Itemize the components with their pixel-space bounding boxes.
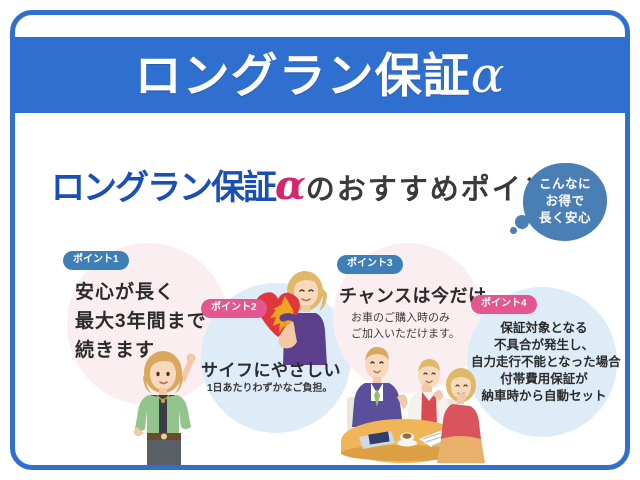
point-2-title: サイフにやさしい [201, 360, 341, 382]
point-1-title: 安心が長く 最大3年間まで 続きます [75, 278, 207, 365]
point-1-title-line-3: 続きます [75, 336, 207, 365]
speech-bubble-tail-small [510, 227, 517, 234]
speech-bubble-line-1: こんなに [523, 176, 607, 193]
header-banner: ロングラン保証α [15, 37, 625, 113]
point-4-badge: ポイント4 [471, 295, 537, 314]
banner-title-text: ロングラン保証 [135, 49, 471, 102]
subtitle-alpha: α [275, 162, 306, 209]
speech-bubble-line-3: 長く安心 [523, 210, 607, 227]
point-1-badge-wrap: ポイント1 [63, 249, 129, 270]
point-2-sub-line-1: 1日あたりわずかなご負担。 [207, 382, 341, 396]
page-title: ロングラン保証α [135, 50, 506, 100]
speech-bubble-line-2: お得で [523, 193, 607, 210]
point-2-badge-wrap: ポイント2 [201, 297, 267, 318]
point-4-title: 保証対象となる 不具合が発生し、 自力走行不能となった場合 付帯費用保証が 納車… [471, 320, 617, 405]
point-3: ポイント3 チャンスは今だけ お車のご購入時のみ ご加入いただけます。 [337, 253, 486, 342]
point-3-title: チャンスは今だけ [339, 284, 486, 308]
point-3-badge: ポイント3 [337, 255, 403, 274]
point-1-badge: ポイント1 [63, 251, 129, 270]
point-4-title-line-1: 保証対象となる [471, 320, 617, 337]
point-4-title-line-4: 付帯費用保証が [471, 371, 617, 388]
point-4-title-line-3: 自力走行不能となった場合 [471, 354, 617, 371]
point-1: ポイント1 安心が長く 最大3年間まで 続きます [63, 249, 207, 365]
point-4-title-line-5: 納車時から自動セット [471, 388, 617, 405]
point-3-title-line-1: チャンスは今だけ [339, 284, 486, 308]
speech-bubble: こんなに お得で 長く安心 [523, 163, 607, 241]
point-3-sub-line-1: お車のご購入時のみ [351, 310, 486, 326]
point-3-subtext: お車のご購入時のみ ご加入いただけます。 [351, 310, 486, 342]
point-2-subtext: 1日あたりわずかなご負担。 [207, 382, 341, 396]
point-1-title-line-1: 安心が長く [75, 278, 207, 307]
subtitle-brand: ロングラン保証 [51, 169, 275, 207]
point-4-title-line-2: 不具合が発生し、 [471, 337, 617, 354]
point-1-title-line-2: 最大3年間まで [75, 307, 207, 336]
point-2: ポイント2 サイフにやさしい 1日あたりわずかなご負担。 [201, 297, 341, 396]
point-4-badge-wrap: ポイント4 [471, 293, 537, 314]
point-4: ポイント4 保証対象となる 不具合が発生し、 自力走行不能となった場合 付帯費用… [471, 293, 617, 405]
banner-title-alpha: α [471, 46, 506, 104]
point-3-badge-wrap: ポイント3 [337, 253, 403, 274]
advertisement-poster: ロングラン保証α ロングラン保証αのおすすめポイント こんなに お得で 長く安心 [10, 10, 630, 470]
point-3-sub-line-2: ご加入いただけます。 [351, 326, 486, 342]
point-2-badge: ポイント2 [201, 299, 267, 318]
point-2-title-line-1: サイフにやさしい [201, 360, 341, 382]
